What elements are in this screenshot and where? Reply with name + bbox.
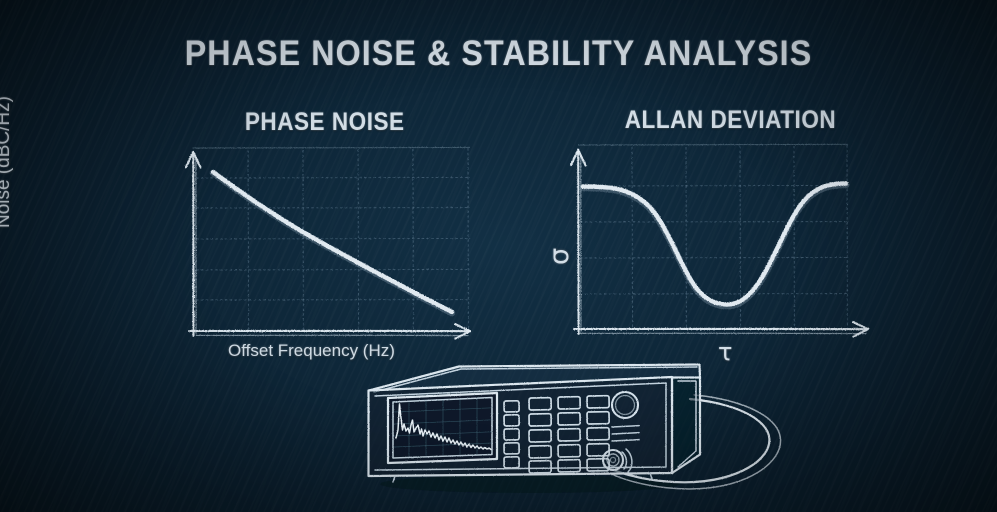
chart-left-phase-noise xyxy=(186,147,470,338)
chalkboard-illustration: PHASE NOISE & STABILITY ANALYSIS PHASE N… xyxy=(0,0,997,512)
chalk-drawing-layer xyxy=(0,0,997,512)
y-axis-left xyxy=(186,152,201,336)
y-axis-right xyxy=(571,150,586,334)
x-axis-right xyxy=(574,322,868,337)
display-grid xyxy=(394,398,492,457)
curve-allan-deviation xyxy=(583,184,846,307)
instrument-side-face xyxy=(672,377,700,473)
instrument-shadow xyxy=(380,475,680,493)
plot-top-rule-left xyxy=(193,147,470,148)
spectrum-analyzer xyxy=(369,365,781,494)
instrument-display xyxy=(388,393,497,463)
chart-right-allan-deviation xyxy=(571,144,868,336)
x-axis-left xyxy=(189,324,470,339)
curve-phase-noise xyxy=(213,172,452,313)
plot-top-rule-right xyxy=(578,144,848,145)
